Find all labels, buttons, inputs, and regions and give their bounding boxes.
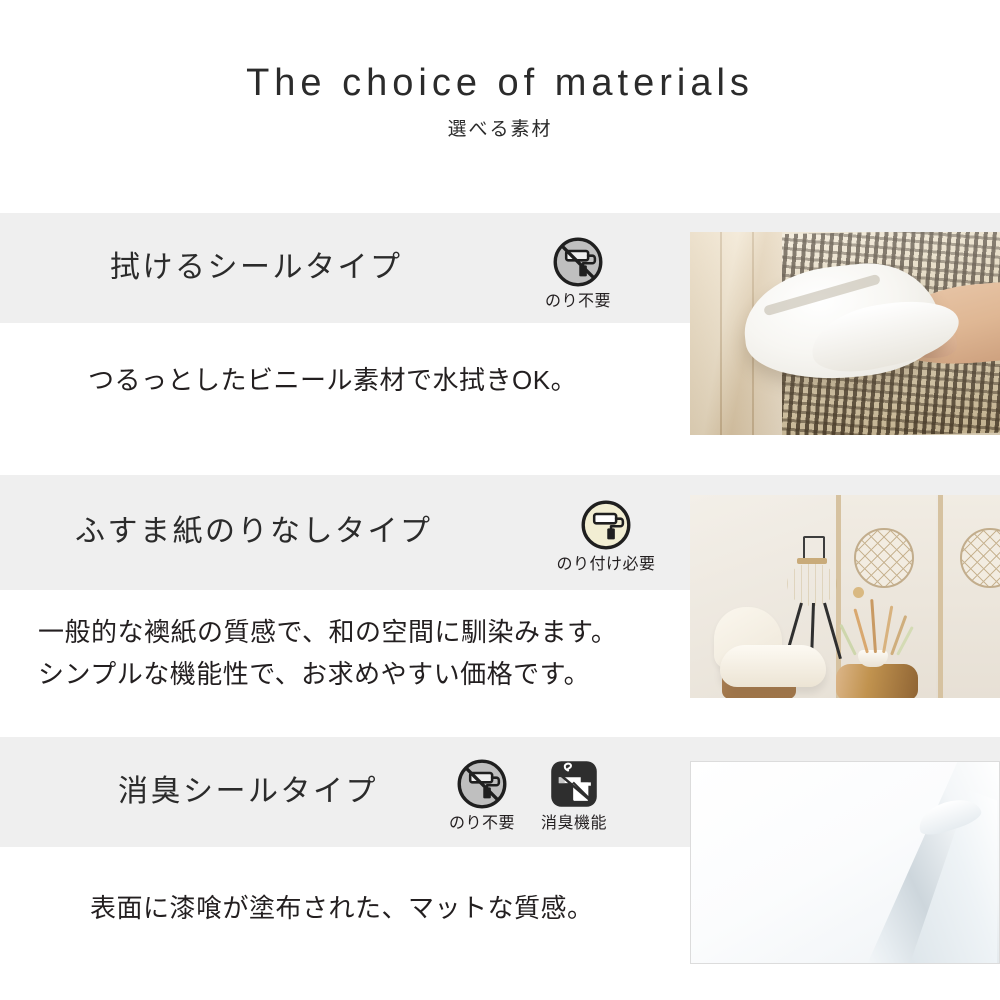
white-curled-sheet-photo [690,761,1000,964]
fusuma-frame-2 [938,495,943,698]
materials-choice-page: The choice of materials 選べる素材 拭けるシールタイプ … [0,0,1000,1000]
section-3-description: 表面に漆喰が塗布された、マットな質感。 [90,888,594,928]
paper-lantern-shade [787,563,837,606]
armchair-seat [720,645,826,687]
badge-no-glue-label: のり不要 [449,815,515,833]
deodorize-icon [547,757,601,811]
section-3-title: 消臭シールタイプ [118,777,378,807]
japanese-interior-fusuma-photo [690,495,1000,698]
fusuma-knob [853,587,864,598]
section-2-description-line-2: シンプルな機能性で、お求めやすい価格です。 [38,654,590,694]
badge-deodorize-label: 消臭機能 [541,815,607,833]
page-subtitle: 選べる素材 [0,120,1000,139]
section-2-title: ふすま紙のりなしタイプ [75,517,433,547]
page-header: The choice of materials 選べる素材 [0,0,1000,139]
badge-no-glue: のり不要 [540,235,616,311]
wood-side-table [836,664,918,698]
fusuma-panel-2 [942,495,1000,698]
glue-roller-icon [579,498,633,552]
section-2-badges: のり付け必要 [548,498,664,574]
section-3-badges: のり不要 消臭機能 [444,757,612,833]
towel-wiping-woven-mat-photo [690,232,1000,435]
badge-glue-required-label: のり付け必要 [556,556,655,574]
page-title: The choice of materials [0,64,1000,102]
badge-glue-required: のり付け必要 [548,498,664,574]
circular-lattice-1 [854,528,914,588]
section-2-description-line-1: 一般的な襖紙の質感で、和の空間に馴染みます。 [38,612,617,652]
badge-no-glue: のり不要 [444,757,520,833]
no-glue-roller-icon [551,235,605,289]
badge-deodorize: 消臭機能 [536,757,612,833]
badge-no-glue-label: のり不要 [545,293,611,311]
no-glue-roller-icon [455,757,509,811]
section-1-badges: のり不要 [540,235,616,311]
section-1-description: つるっとしたビニール素材で水拭きOK。 [88,360,577,400]
section-1-title: 拭けるシールタイプ [110,253,403,283]
